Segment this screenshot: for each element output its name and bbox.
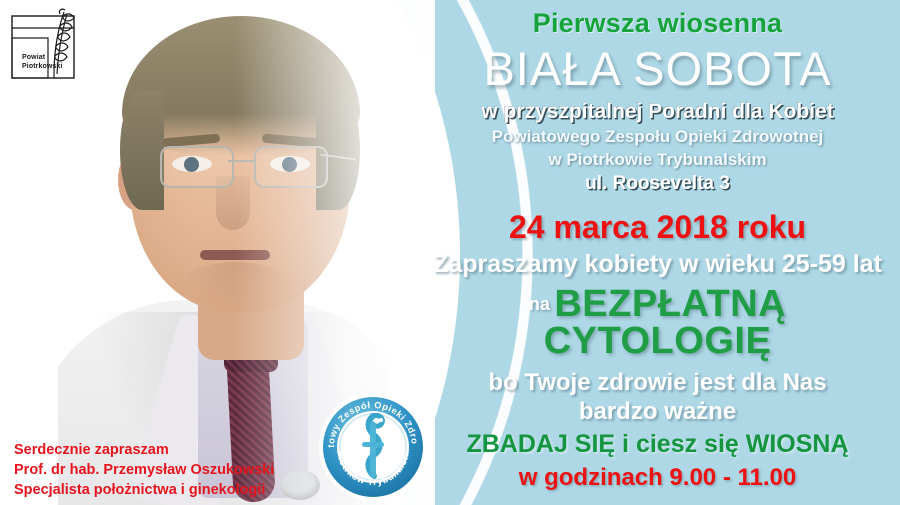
page-title: BIAŁA SOBOTA xyxy=(415,41,900,96)
eyeglasses-bridge xyxy=(228,160,256,162)
powiat-logo-line2: Piotrkowski xyxy=(22,63,62,72)
hair-left xyxy=(120,90,164,210)
event-hours: w godzinach 9.00 - 11.00 xyxy=(415,464,900,492)
call-to-action: ZBADAJ SIĘ i ciesz się WIOSNĄ xyxy=(415,430,900,459)
powiat-piotrkowski-logo: Powiat Piotrkowski xyxy=(8,8,94,82)
eyeglasses-lens-left xyxy=(160,146,234,188)
event-date: 24 marca 2018 roku xyxy=(415,209,900,246)
powiat-logo-text: Powiat Piotrkowski xyxy=(22,54,62,71)
invitation-line-2: Prof. dr hab. Przemysław Oszukowski xyxy=(14,460,344,480)
poster-text-column: Pierwsza wiosenna BIAŁA SOBOTA w przyszp… xyxy=(415,0,900,505)
reason-line-2: bardzo ważne xyxy=(415,398,900,426)
poster-root: Powiat Piotrkowski xyxy=(0,0,900,505)
powiat-logo-line1: Powiat xyxy=(22,54,62,63)
offer-prefix: na xyxy=(529,294,550,314)
organization-line-2: w Piotrkowie Trybunalskim xyxy=(415,149,900,170)
address-line: ul. Roosevelta 3 xyxy=(415,173,900,195)
organization-line-1: Powiatowego Zespołu Opieki Zdrowotnej xyxy=(415,126,900,147)
offer-line-2: CYTOLOGIĘ xyxy=(415,320,900,363)
headline-subtitle: w przyszpitalnej Poradni dla Kobiet xyxy=(415,100,900,124)
invitation-line-1: Serdecznie zapraszam xyxy=(14,440,344,460)
invitation-block: Serdecznie zapraszam Prof. dr hab. Przem… xyxy=(14,440,344,500)
reason-line-1: bo Twoje zdrowie jest dla Nas xyxy=(415,369,900,397)
mouth xyxy=(200,250,270,260)
offer-word-1: BEZPŁATNĄ xyxy=(554,283,786,325)
eyeglasses-lens-right xyxy=(254,146,328,188)
invitation-line-3: Specjalista położnictwa i ginekologii xyxy=(14,480,344,500)
event-audience: Zapraszamy kobiety w wieku 25-59 lat xyxy=(415,250,900,279)
chin-shading xyxy=(178,262,294,314)
headline-eyebrow: Pierwsza wiosenna xyxy=(415,0,900,39)
